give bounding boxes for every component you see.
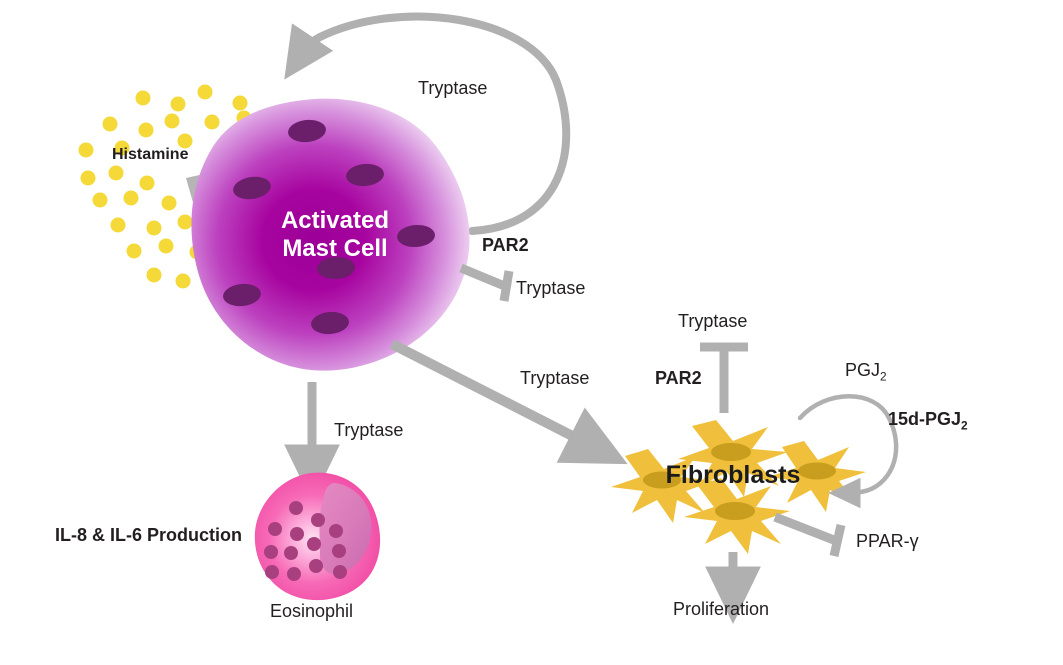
ppar-gamma-label: PPAR-γ [856, 531, 919, 552]
15d-pgj2-subscript: 2 [961, 419, 968, 433]
15d-pgj2-label: 15d-PGJ2 [888, 409, 968, 430]
proliferation-label: Proliferation [673, 599, 769, 620]
tryptase-to-fibroblasts-label: Tryptase [520, 368, 589, 389]
il-production-label: IL-8 & IL-6 Production [55, 525, 242, 546]
par2-fibroblast-label: PAR2 [655, 368, 702, 389]
pgj2-label: PGJ2 [845, 360, 887, 381]
fibroblasts-label: Fibroblasts [638, 461, 828, 490]
diagram-graphics [0, 0, 1063, 665]
15d-pgj2-text: 15d-PGJ [888, 409, 961, 429]
activated-mast-cell-label: Activated Mast Cell [240, 207, 430, 264]
tryptase-par2-fibroblast-inhibition-connector [700, 347, 748, 413]
eosinophil-label: Eosinophil [270, 601, 353, 622]
par2-tryptase-inhibition-connector [461, 268, 509, 301]
eosinophil-body [255, 473, 380, 600]
tryptase-autocrine-label: Tryptase [418, 78, 487, 99]
ppar-gamma-inhibition-connector [775, 517, 841, 556]
tryptase-par2-mast-label: Tryptase [516, 278, 585, 299]
tryptase-to-eosinophil-label: Tryptase [334, 420, 403, 441]
par2-mast-label: PAR2 [482, 235, 529, 256]
histamine-label: Histamine [112, 146, 188, 164]
mast-to-fibroblasts-arrow [392, 344, 592, 446]
pgj2-subscript: 2 [880, 370, 887, 384]
pgj2-text: PGJ [845, 360, 880, 380]
tryptase-fibroblast-par2-label: Tryptase [678, 311, 747, 332]
diagram-canvas: Histamine Activated Mast Cell Tryptase P… [0, 0, 1063, 665]
